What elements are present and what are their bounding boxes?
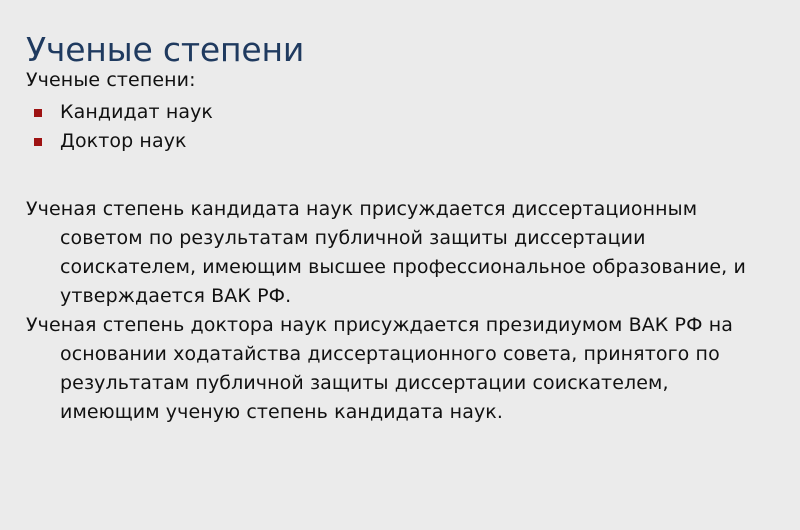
slide-canvas: Ученые степени Ученые степени: Кандидат … [0,0,800,530]
list-item-label: Кандидат наук [60,101,213,123]
intro-lead-line: Ученые степени: [26,68,771,93]
page-title: Ученые степени [26,29,304,71]
square-bullet-icon [34,138,42,146]
degrees-list: Кандидат наук Доктор наук [26,98,771,156]
slide-body: Ученые степени: Кандидат наук Доктор нау… [26,68,771,427]
paragraph-group: Ученая степень кандидата наук присуждает… [26,195,771,427]
list-item: Доктор наук [26,127,771,156]
paragraph-candidate-degree: Ученая степень кандидата наук присуждает… [26,195,771,311]
list-item-label: Доктор наук [60,130,187,152]
paragraph-doctor-degree: Ученая степень доктора наук присуждается… [26,311,771,427]
list-item: Кандидат наук [26,98,771,127]
square-bullet-icon [34,109,42,117]
